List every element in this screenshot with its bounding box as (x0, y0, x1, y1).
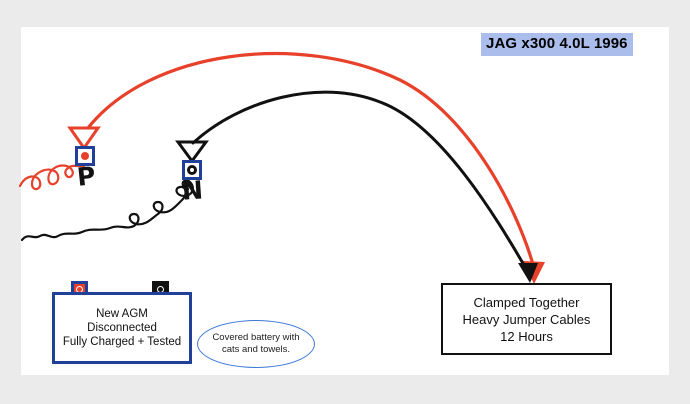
note-line-2: cats and towels. (222, 344, 290, 356)
vehicle-title-label: JAG x300 4.0L 1996 (481, 33, 633, 56)
battery-line-1: New AGM (96, 307, 148, 321)
battery-line-2: Disconnected (87, 321, 157, 335)
terminal-label-positive: P (76, 163, 97, 190)
battery-line-3: Fully Charged + Tested (63, 335, 181, 349)
result-line-2: Heavy Jumper Cables (463, 311, 591, 328)
result-line-3: 12 Hours (500, 328, 553, 345)
terminal-dot-positive (81, 152, 89, 160)
covered-battery-note: Covered battery with cats and towels. (197, 320, 315, 368)
diagram-page: JAG x300 4.0L 1996 P N New AGM Disconnec… (0, 0, 690, 404)
terminal-dot-negative (187, 165, 197, 175)
result-line-1: Clamped Together (474, 294, 580, 311)
note-line-1: Covered battery with (212, 332, 299, 344)
terminal-label-negative: N (181, 177, 204, 203)
battery-status-box: New AGM Disconnected Fully Charged + Tes… (52, 292, 192, 364)
jumper-cable-result-box: Clamped Together Heavy Jumper Cables 12 … (441, 283, 612, 355)
